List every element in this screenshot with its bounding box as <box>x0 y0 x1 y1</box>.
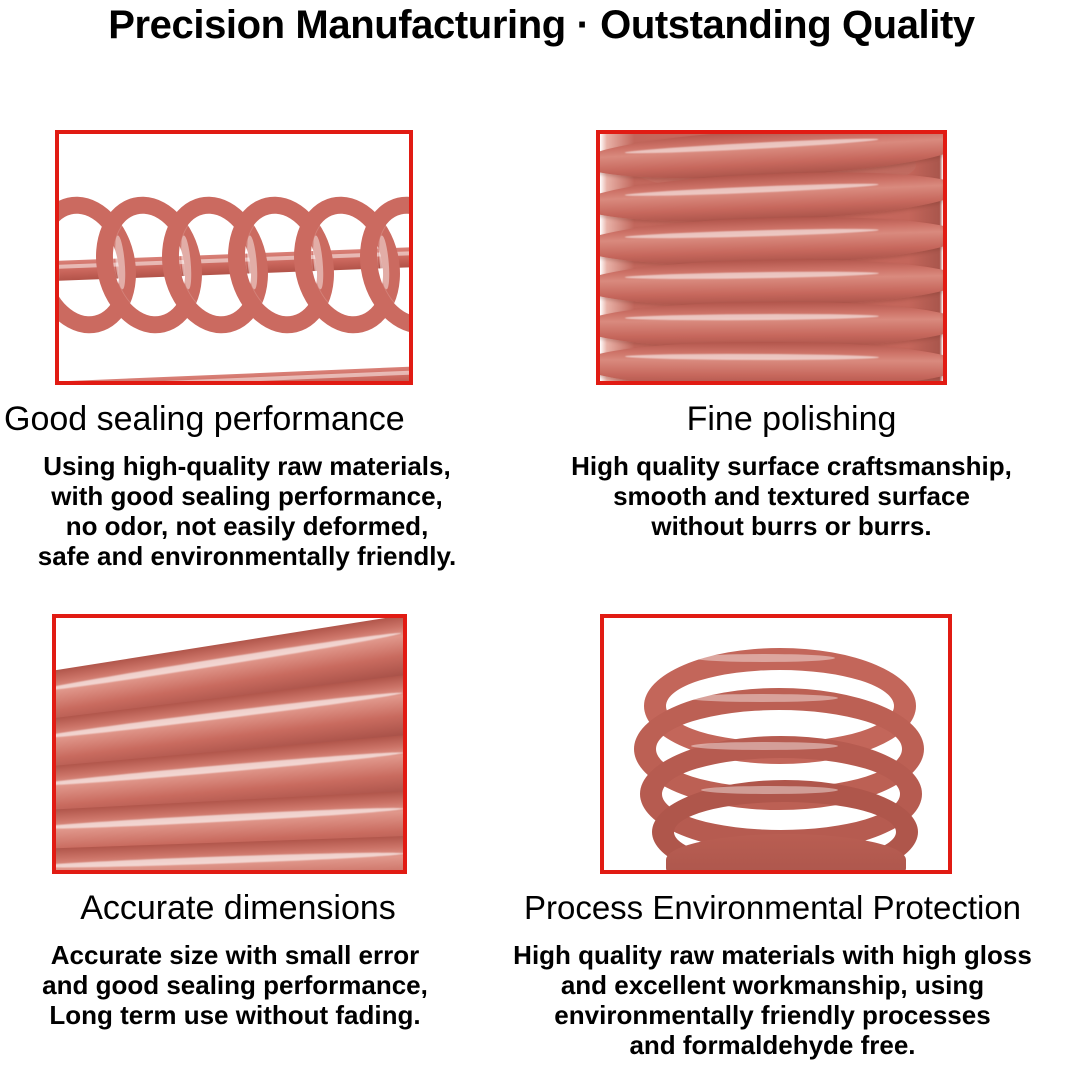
feature-heading-2: Fine polishing <box>500 399 1083 439</box>
feature-panel-process-environmental-protection: Process Environmental Protection High qu… <box>462 614 1083 1060</box>
feature-photo-frame-2 <box>596 130 947 385</box>
product-photo-macro-coil-bands <box>600 134 943 381</box>
feature-body-line: Using high-quality raw materials, <box>8 451 486 481</box>
feature-heading-4: Process Environmental Protection <box>462 888 1083 928</box>
feature-body-line: environmentally friendly processes <box>480 1000 1065 1030</box>
product-photo-parallel-cords <box>56 618 403 870</box>
feature-body-line: High quality raw materials with high glo… <box>480 940 1065 970</box>
feature-body-line: High quality surface craftsmanship, <box>524 451 1059 481</box>
product-photo-coil-rings <box>604 618 948 870</box>
feature-photo-frame-4 <box>600 614 952 874</box>
feature-body-line: Long term use without fading. <box>10 1000 460 1030</box>
feature-panel-accurate-dimensions: Accurate dimensions Accurate size with s… <box>0 614 470 1030</box>
feature-body-line: smooth and textured surface <box>524 481 1059 511</box>
parallel-cords-graphic <box>56 618 403 870</box>
feature-body-line: with good sealing performance, <box>8 481 486 511</box>
feature-panel-fine-polishing: Fine polishing High quality surface craf… <box>500 130 1083 541</box>
feature-body-line: without burrs or burrs. <box>524 511 1059 541</box>
feature-body-line: safe and environmentally friendly. <box>8 541 486 571</box>
macro-coil-graphic <box>600 134 943 381</box>
feature-body-line: no odor, not easily deformed, <box>8 511 486 541</box>
product-photo-open-helix-coil <box>59 134 409 381</box>
feature-body-4: High quality raw materials with high glo… <box>462 940 1083 1060</box>
feature-body-2: High quality surface craftsmanship, smoo… <box>500 451 1083 541</box>
feature-heading-1: Good sealing performance <box>0 399 500 439</box>
feature-heading-3: Accurate dimensions <box>0 888 470 928</box>
feature-body-line: and formaldehyde free. <box>480 1030 1065 1060</box>
feature-body-3: Accurate size with small error and good … <box>0 940 470 1030</box>
feature-body-line: Accurate size with small error <box>10 940 460 970</box>
feature-body-line: and good sealing performance, <box>10 970 460 1000</box>
helix-coil-graphic <box>55 196 413 336</box>
feature-photo-frame-3 <box>52 614 407 874</box>
coil-stack-graphic <box>626 644 936 874</box>
feature-body-1: Using high-quality raw materials, with g… <box>0 451 500 571</box>
feature-photo-frame-1 <box>55 130 413 385</box>
feature-body-line: and excellent workmanship, using <box>480 970 1065 1000</box>
coil-band <box>596 341 947 385</box>
coil-band-bottom <box>55 365 413 385</box>
feature-panel-good-sealing-performance: Good sealing performance Using high-qual… <box>0 130 500 571</box>
page-title: Precision Manufacturing · Outstanding Qu… <box>0 2 1083 48</box>
